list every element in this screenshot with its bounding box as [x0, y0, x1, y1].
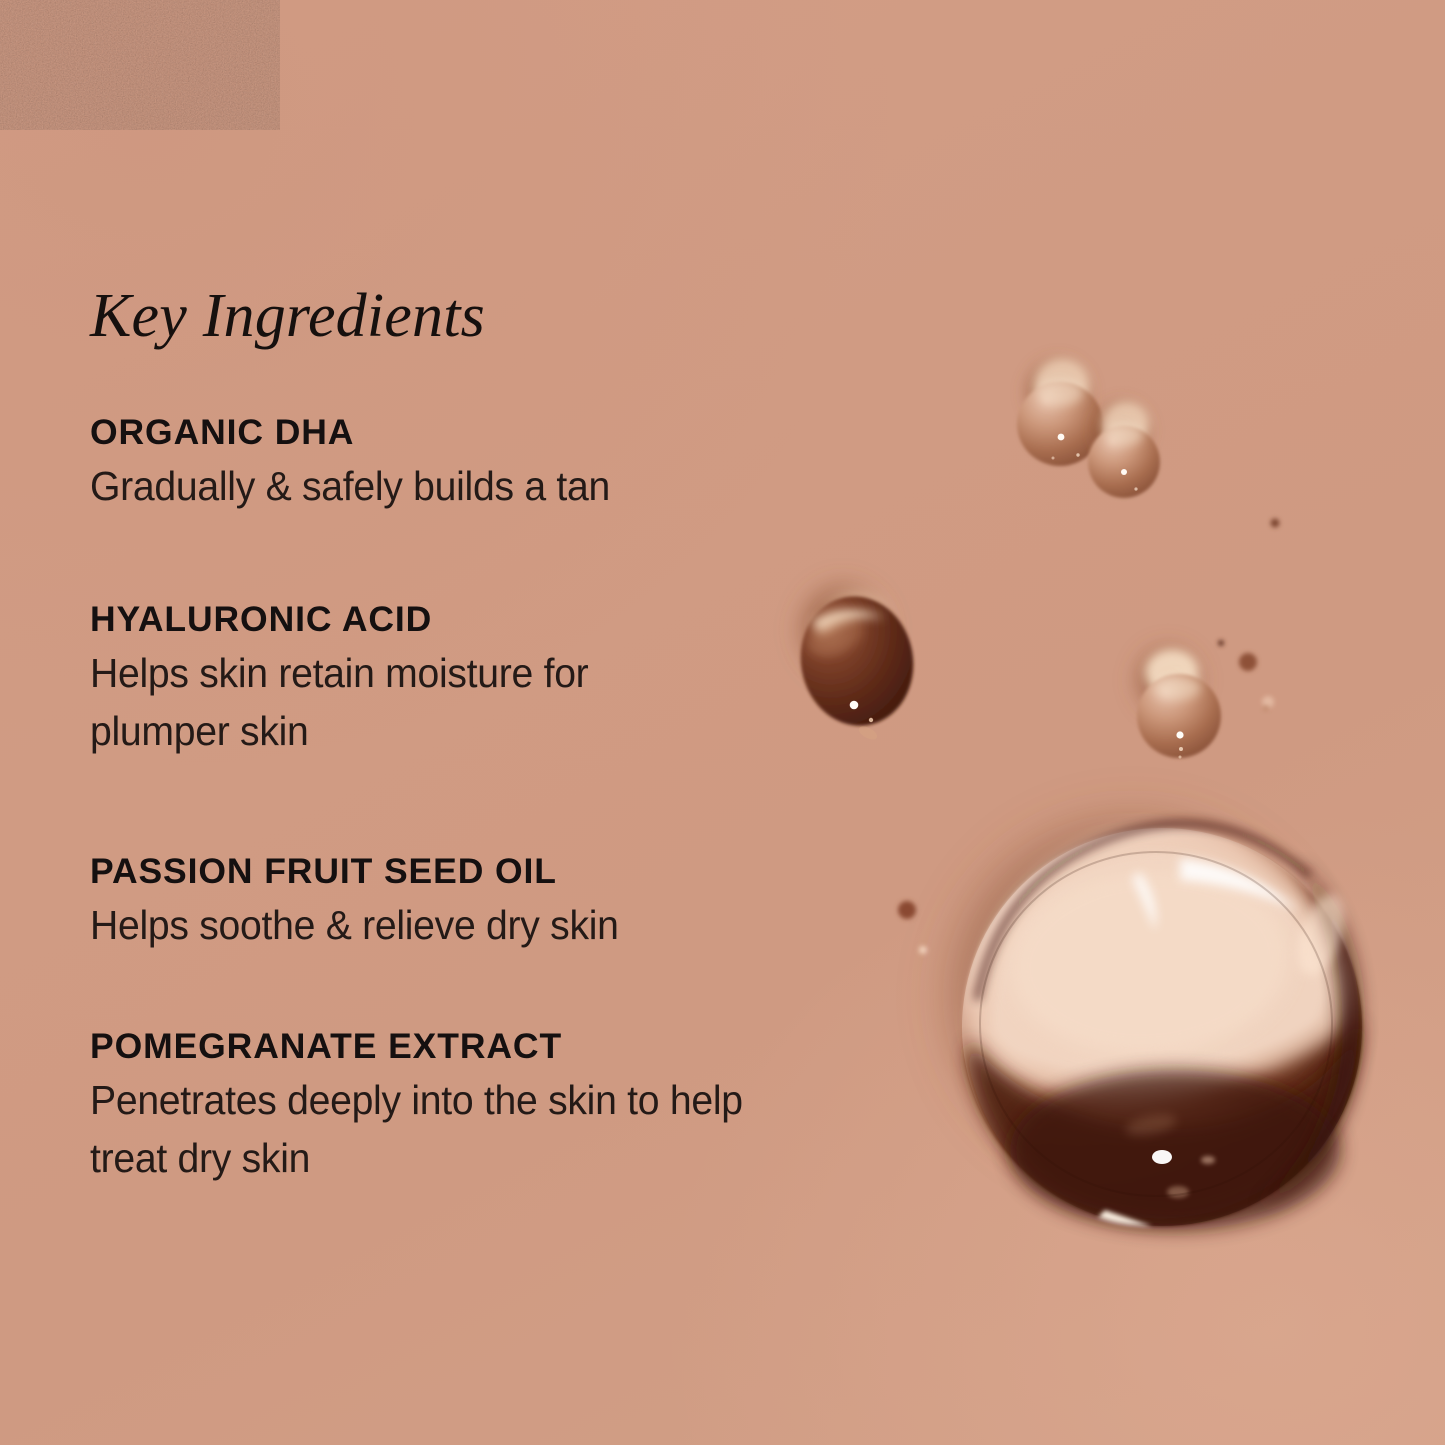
ingredient-name: ORGANIC DHA: [90, 415, 890, 451]
ingredient-item-passion-fruit-seed-oil: PASSION FRUIT SEED OIL Helps soothe & re…: [90, 854, 890, 954]
droplet-small-upper-a: [1017, 351, 1103, 466]
droplet-small-upper-b: [1087, 394, 1160, 498]
product-ingredient-card: Key Ingredients ORGANIC DHA Gradually & …: [0, 0, 1445, 1445]
page-title: Key Ingredients: [90, 285, 485, 347]
background-specks: [898, 519, 1280, 955]
paper-grain-texture: [0, 0, 280, 130]
speck-dark-a: [898, 901, 916, 919]
ingredient-description: Helps soothe & relieve dry skin: [90, 896, 854, 954]
speck-dark-c: [1239, 653, 1257, 671]
speck-micro-a: [1218, 640, 1224, 646]
speck-light-a: [919, 946, 927, 954]
ingredient-item-pomegranate-extract: POMEGRANATE EXTRACT Penetrates deeply in…: [90, 1029, 890, 1187]
droplet-medium-right: [1128, 639, 1221, 759]
ingredient-name: PASSION FRUIT SEED OIL: [90, 854, 890, 890]
ingredient-item-hyaluronic-acid: HYALURONIC ACID Helps skin retain moistu…: [90, 602, 890, 760]
ingredient-item-organic-dha: ORGANIC DHA Gradually & safely builds a …: [90, 415, 890, 515]
speck-dark-b: [1271, 519, 1280, 528]
droplet-large: [920, 790, 1362, 1230]
ingredient-description: Penetrates deeply into the skin to help …: [90, 1071, 801, 1187]
ingredient-name: POMEGRANATE EXTRACT: [90, 1029, 890, 1065]
ingredient-description: Gradually & safely builds a tan: [90, 457, 854, 515]
paper-grain-highlight-texture: [0, 0, 280, 130]
ingredient-name: HYALURONIC ACID: [90, 602, 890, 638]
speck-light-c: [1263, 705, 1269, 711]
ingredient-description: Helps skin retain moisture for plumper s…: [90, 644, 720, 760]
speck-light-b: [1262, 696, 1274, 708]
